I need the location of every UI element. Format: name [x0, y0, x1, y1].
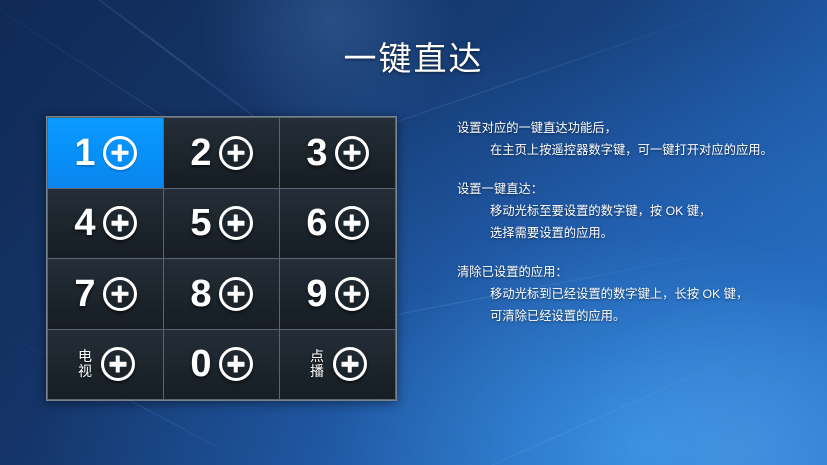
keypad-key-label: 4: [74, 204, 95, 242]
keypad-key-label: 点播: [309, 349, 326, 380]
plus-circle-icon[interactable]: [103, 136, 137, 170]
keypad-key-4[interactable]: 4: [48, 189, 163, 259]
keypad-key-label: 2: [190, 134, 211, 172]
plus-circle-icon[interactable]: [103, 277, 137, 311]
instruction-line: 可清除已经设置的应用。: [457, 305, 817, 327]
instruction-paragraph: 清除已设置的应用：移动光标到已经设置的数字键上，长按 OK 键，可清除已经设置的…: [457, 261, 817, 327]
instruction-line: 移动光标至要设置的数字键，按 OK 键，: [457, 200, 817, 222]
keypad-key-label: 1: [74, 134, 95, 172]
keypad-key-0[interactable]: 0: [164, 330, 279, 400]
plus-circle-icon[interactable]: [219, 136, 253, 170]
plus-circle-icon[interactable]: [101, 347, 135, 381]
background-streak: [351, 332, 790, 465]
keypad-key-2[interactable]: 2: [164, 118, 279, 188]
instruction-line: 设置一键直达：: [457, 178, 817, 200]
page-title: 一键直达: [0, 32, 827, 80]
keypad-key-label: 5: [190, 204, 211, 242]
keypad-key-8[interactable]: 8: [164, 259, 279, 329]
keypad-key-6[interactable]: 6: [280, 189, 395, 259]
plus-circle-icon[interactable]: [103, 206, 137, 240]
shortcut-keypad-grid: 123456789电视0点播: [46, 116, 397, 401]
plus-circle-icon[interactable]: [219, 277, 253, 311]
plus-circle-icon[interactable]: [335, 136, 369, 170]
instructions-panel: 设置对应的一键直达功能后，在主页上按遥控器数字键，可一键打开对应的应用。设置一键…: [457, 117, 817, 327]
instruction-line: 清除已设置的应用：: [457, 261, 817, 283]
keypad-key-label: 8: [190, 275, 211, 313]
instruction-paragraph: 设置一键直达：移动光标至要设置的数字键，按 OK 键，选择需要设置的应用。: [457, 178, 817, 244]
plus-circle-icon[interactable]: [219, 347, 253, 381]
keypad-key-7[interactable]: 7: [48, 259, 163, 329]
keypad-key-5[interactable]: 5: [164, 189, 279, 259]
keypad-key-label: 3: [306, 134, 327, 172]
instruction-paragraph: 设置对应的一键直达功能后，在主页上按遥控器数字键，可一键打开对应的应用。: [457, 117, 817, 161]
keypad-key-label: 电视: [77, 349, 94, 380]
instruction-line: 移动光标到已经设置的数字键上，长按 OK 键，: [457, 283, 817, 305]
plus-circle-icon[interactable]: [335, 277, 369, 311]
keypad-key-label: 7: [74, 275, 95, 313]
keypad-key-1[interactable]: 1: [48, 118, 163, 188]
instruction-line: 选择需要设置的应用。: [457, 222, 817, 244]
plus-circle-icon[interactable]: [333, 347, 367, 381]
keypad-key-3[interactable]: 3: [280, 118, 395, 188]
instruction-line: 在主页上按遥控器数字键，可一键打开对应的应用。: [457, 139, 817, 161]
instruction-line: 设置对应的一键直达功能后，: [457, 117, 817, 139]
keypad-key-label: 0: [190, 345, 211, 383]
keypad-key-电视[interactable]: 电视: [48, 330, 163, 400]
plus-circle-icon[interactable]: [335, 206, 369, 240]
keypad-key-点播[interactable]: 点播: [280, 330, 395, 400]
keypad-key-9[interactable]: 9: [280, 259, 395, 329]
slide-canvas: 一键直达 123456789电视0点播 设置对应的一键直达功能后，在主页上按遥控…: [0, 0, 827, 465]
keypad-key-label: 9: [306, 275, 327, 313]
plus-circle-icon[interactable]: [219, 206, 253, 240]
keypad-key-label: 6: [306, 204, 327, 242]
